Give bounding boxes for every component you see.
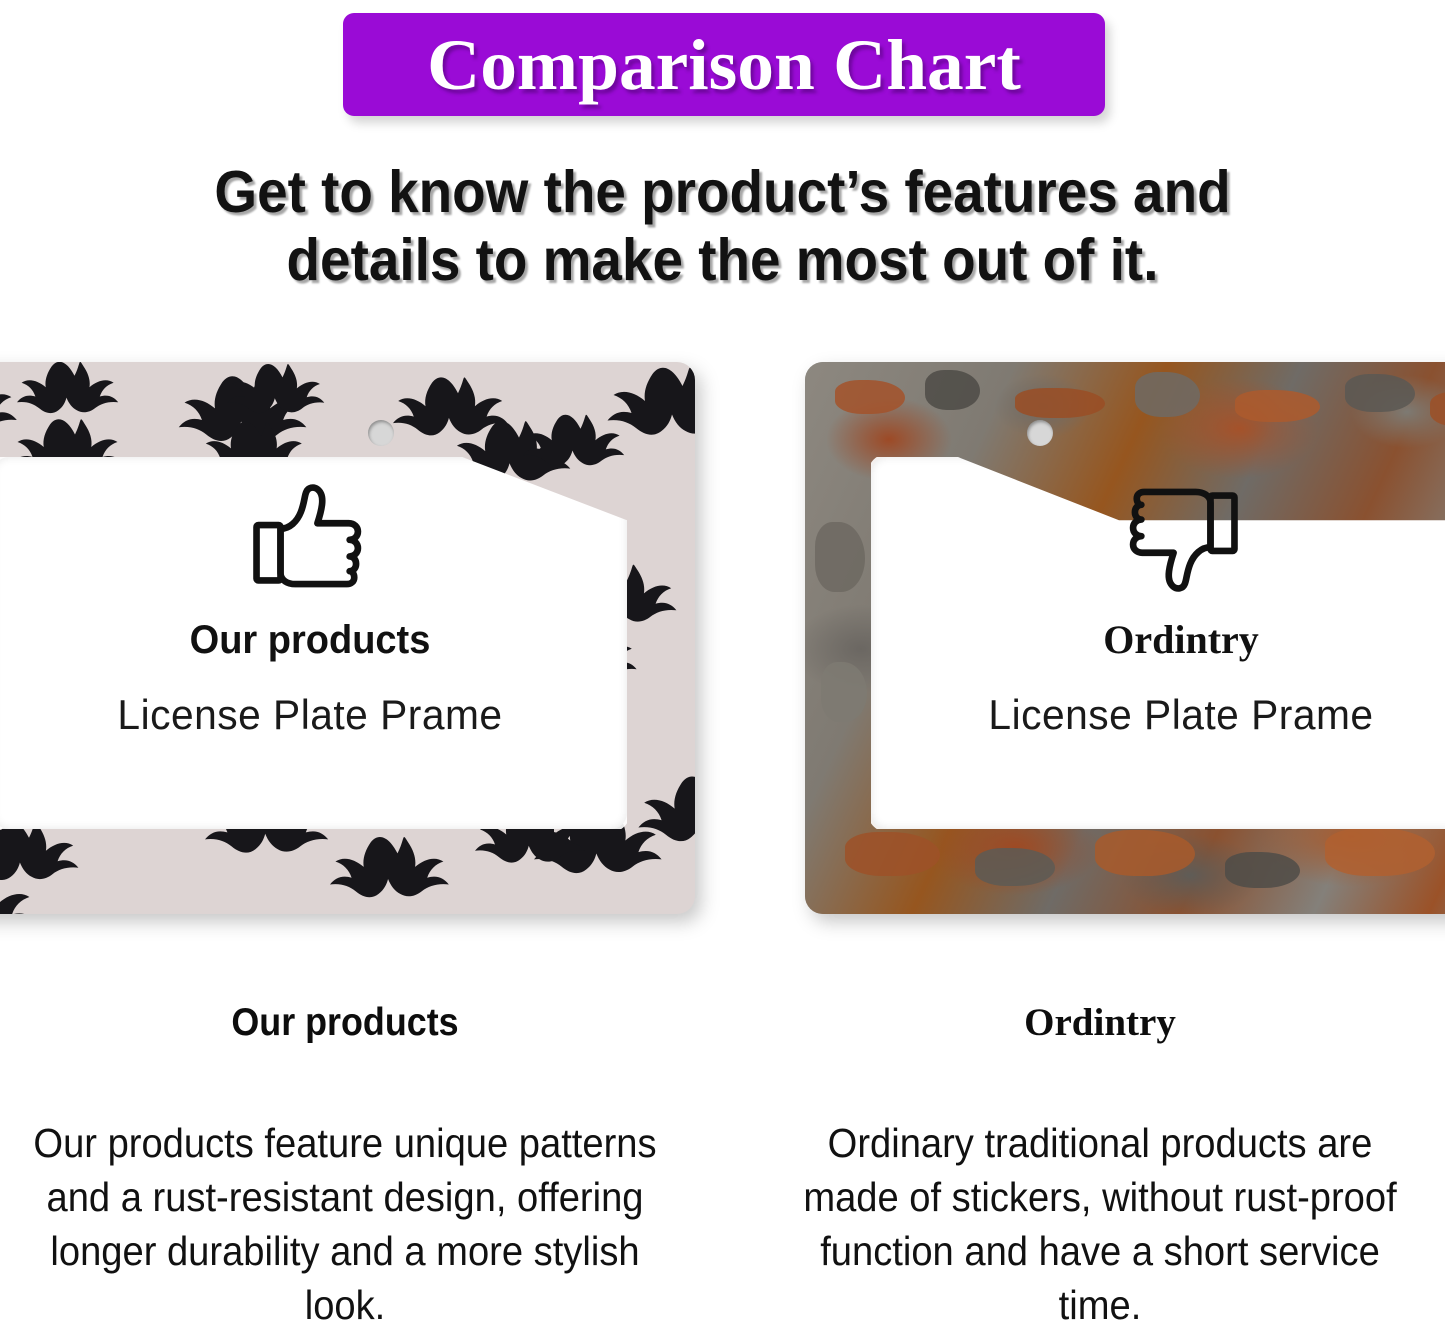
plate-inner-content-ordinary: Ordintry License Plate Prame [871, 480, 1445, 738]
column-heading-ours: Our products [28, 1000, 663, 1046]
column-body-ours: Our products feature unique patterns and… [24, 1116, 666, 1332]
plate-name-ordinary: Ordintry [871, 618, 1445, 662]
plate-inner-content-ours: Our products License Plate Prame [0, 480, 627, 738]
comparison-column-ours: Our products Our products feature unique… [0, 1000, 690, 1332]
thumbs-up-icon [251, 480, 369, 596]
product-plate-ordinary: Ordintry License Plate Prame [805, 362, 1445, 914]
column-heading-ordinary: Ordintry [755, 1000, 1445, 1046]
product-plate-ours: Our products License Plate Prame [0, 362, 695, 914]
page-title: Comparison Chart [427, 29, 1021, 101]
subheadline-line-1: Get to know the product’s features and [51, 158, 1395, 226]
mount-hole-icon [368, 420, 394, 446]
title-banner-background: Comparison Chart [343, 13, 1105, 116]
column-body-ordinary: Ordinary traditional products are made o… [779, 1116, 1421, 1332]
subheadline: Get to know the product’s features and d… [51, 158, 1395, 294]
thumbs-down-icon [1122, 480, 1240, 596]
subheadline-line-2: details to make the most out of it. [51, 226, 1395, 294]
plate-subtitle-ours: License Plate Prame [3, 692, 618, 738]
plate-name-ours: Our products [9, 618, 611, 662]
plate-subtitle-ordinary: License Plate Prame [880, 692, 1445, 738]
comparison-column-ordinary: Ordintry Ordinary traditional products a… [755, 1000, 1445, 1332]
mount-hole-icon [1027, 420, 1053, 446]
title-banner: Comparison Chart [343, 13, 1105, 116]
